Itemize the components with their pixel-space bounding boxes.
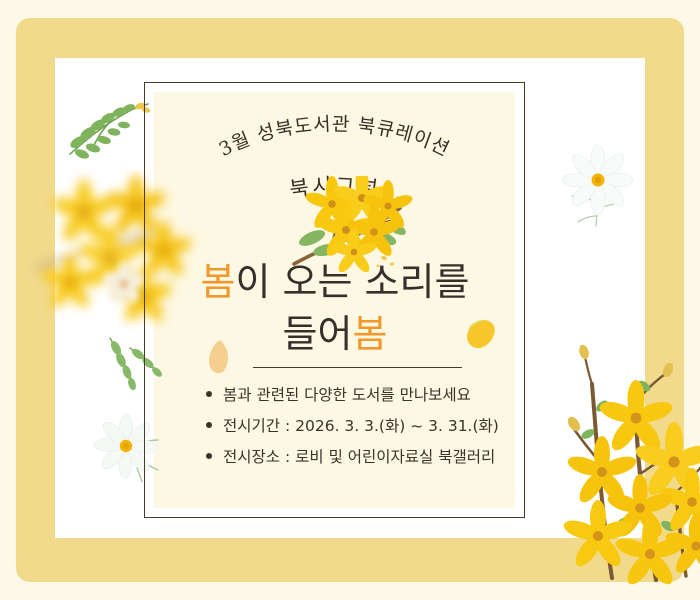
poster-title-line-2: 들어봄 (150, 308, 520, 360)
list-item: 봄과 관련된 다양한 도서를 만나보세요 (206, 383, 516, 405)
list-item-label: 전시장소 : 로비 및 어린이자료실 북갤러리 (223, 445, 495, 467)
bullet-dot-icon (206, 391, 212, 397)
poster-title: 봄이 오는 소리를 들어봄 (150, 256, 520, 361)
poster-title-accent-2: 봄 (352, 312, 387, 356)
poster-title-accent-1: 봄 (201, 260, 236, 304)
bullet-dot-icon (206, 422, 212, 428)
title-divider (253, 367, 462, 368)
poster-title-line-1: 봄이 오는 소리를 (150, 256, 520, 308)
list-item: 전시기간 : 2026. 3. 3.(화) ~ 3. 31.(화) (206, 414, 516, 436)
poster-details-list: 봄과 관련된 다양한 도서를 만나보세요 전시기간 : 2026. 3. 3.(… (206, 383, 516, 476)
list-item-label: 전시기간 : 2026. 3. 3.(화) ~ 3. 31.(화) (223, 414, 499, 436)
poster-canvas: 3월 성북도서관 북큐레이션 북시그널 (0, 0, 700, 600)
list-item: 전시장소 : 로비 및 어린이자료실 북갤러리 (206, 445, 516, 467)
poster-title-rest-2: 들어 (283, 312, 353, 356)
list-item-label: 봄과 관련된 다양한 도서를 만나보세요 (223, 383, 471, 405)
bullet-dot-icon (206, 453, 212, 459)
poster-title-rest-1: 이 오는 소리를 (236, 260, 470, 304)
